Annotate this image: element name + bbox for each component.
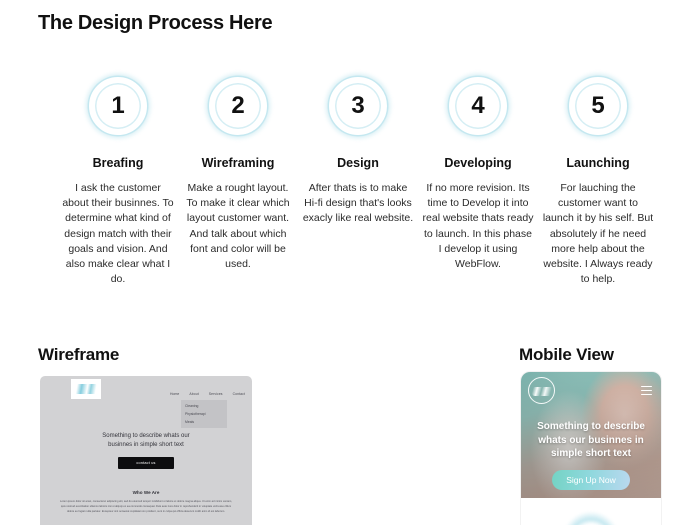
step-ring: 1	[89, 77, 147, 135]
step-number: 3	[351, 94, 364, 118]
process-step-2: 2 Wireframing Make a rought layout. To m…	[178, 66, 298, 272]
step-number: 5	[591, 94, 604, 118]
step-circle-4: 4	[438, 66, 518, 146]
mobile-mockup: Something to describe whats our businnes…	[521, 372, 661, 525]
wireframe-mockup: Home About Services Contact Cleaning Phy…	[40, 376, 252, 525]
hamburger-menu-icon	[641, 386, 652, 395]
wireframe-heading: Wireframe	[38, 345, 119, 365]
step-circle-3: 3	[318, 66, 398, 146]
burger-line	[641, 390, 652, 391]
wireframe-nav-item-contact: Contact	[233, 392, 245, 396]
mobile-hero-line-3: simple short text	[529, 447, 653, 461]
wireframe-services-dropdown: Cleaning Physiotherapi Meals	[181, 400, 227, 428]
wireframe-body-text: Lorem ipsum dolor sit amet, consectetur …	[59, 500, 233, 515]
script-logo-icon	[532, 387, 553, 396]
process-step-5: 5 Launching For lauching the customer wa…	[538, 66, 658, 288]
process-step-3: 3 Design After thats is to make Hi-fi de…	[298, 66, 418, 227]
step-ring: 3	[329, 77, 387, 135]
step-description: After thats is to make Hi-fi design that…	[302, 181, 414, 227]
wireframe-dropdown-item: Physiotherapi	[181, 410, 227, 418]
design-process-page: The Design Process Here 1 Breafing I ask…	[0, 0, 700, 525]
step-ring: 4	[449, 77, 507, 135]
step-description: For lauching the customer want to launch…	[542, 181, 654, 288]
process-steps: 1 Breafing I ask the customer about thei…	[58, 66, 658, 288]
step-description: If no more revision. Its time to Develop…	[422, 181, 534, 272]
wireframe-nav-item-about: About	[189, 392, 198, 396]
wireframe-hero-line-1: Something to describe whats our	[40, 432, 252, 441]
step-label: Launching	[566, 156, 629, 170]
wireframe-nav-item-services: Services	[209, 392, 223, 396]
wireframe-hero: Something to describe whats our businnes…	[40, 432, 252, 469]
mobile-signup-button: Sign Up Now	[552, 470, 630, 490]
page-title: The Design Process Here	[38, 12, 272, 35]
burger-line	[641, 394, 652, 395]
process-step-1: 1 Breafing I ask the customer about thei…	[58, 66, 178, 288]
step-ring: 2	[209, 77, 267, 135]
step-circle-5: 5	[558, 66, 638, 146]
step-circle-2: 2	[198, 66, 278, 146]
burger-line	[641, 386, 652, 387]
wireframe-dropdown-item: Meals	[181, 418, 227, 426]
step-ring: 5	[569, 77, 627, 135]
wireframe-about-section: Who We Are Lorem ipsum dolor sit amet, c…	[40, 490, 252, 515]
mobile-hero-line-1: Something to describe	[529, 420, 653, 434]
mobile-hero-text: Something to describe whats our businnes…	[521, 420, 661, 490]
step-label: Wireframing	[202, 156, 275, 170]
step-circle-1: 1	[78, 66, 158, 146]
mobile-heading: Mobile View	[519, 345, 614, 365]
mobile-lower-section	[521, 498, 661, 525]
step-number: 4	[471, 94, 484, 118]
step-label: Developing	[444, 156, 511, 170]
script-logo-icon	[75, 384, 97, 394]
wireframe-nav-item-home: Home	[170, 392, 179, 396]
process-step-4: 4 Developing If no more revision. Its ti…	[418, 66, 538, 272]
mobile-logo	[528, 377, 555, 404]
step-label: Breafing	[93, 156, 144, 170]
wireframe-nav: Home About Services Contact	[170, 392, 245, 396]
step-number: 1	[111, 94, 124, 118]
wireframe-dropdown-item: Cleaning	[181, 402, 227, 410]
step-number: 2	[231, 94, 244, 118]
step-description: Make a rought layout. To make it clear w…	[182, 181, 294, 272]
wireframe-logo	[71, 379, 101, 399]
wireframe-contact-button: contact us	[118, 457, 173, 469]
mobile-hero-line-2: whats our businnes in	[529, 434, 653, 448]
glow-circle-icon	[562, 511, 620, 525]
step-label: Design	[337, 156, 379, 170]
wireframe-section-title: Who We Are	[40, 490, 252, 495]
step-description: I ask the customer about their businnes.…	[62, 181, 174, 288]
wireframe-hero-line-2: businnes in simple short text	[40, 441, 252, 450]
